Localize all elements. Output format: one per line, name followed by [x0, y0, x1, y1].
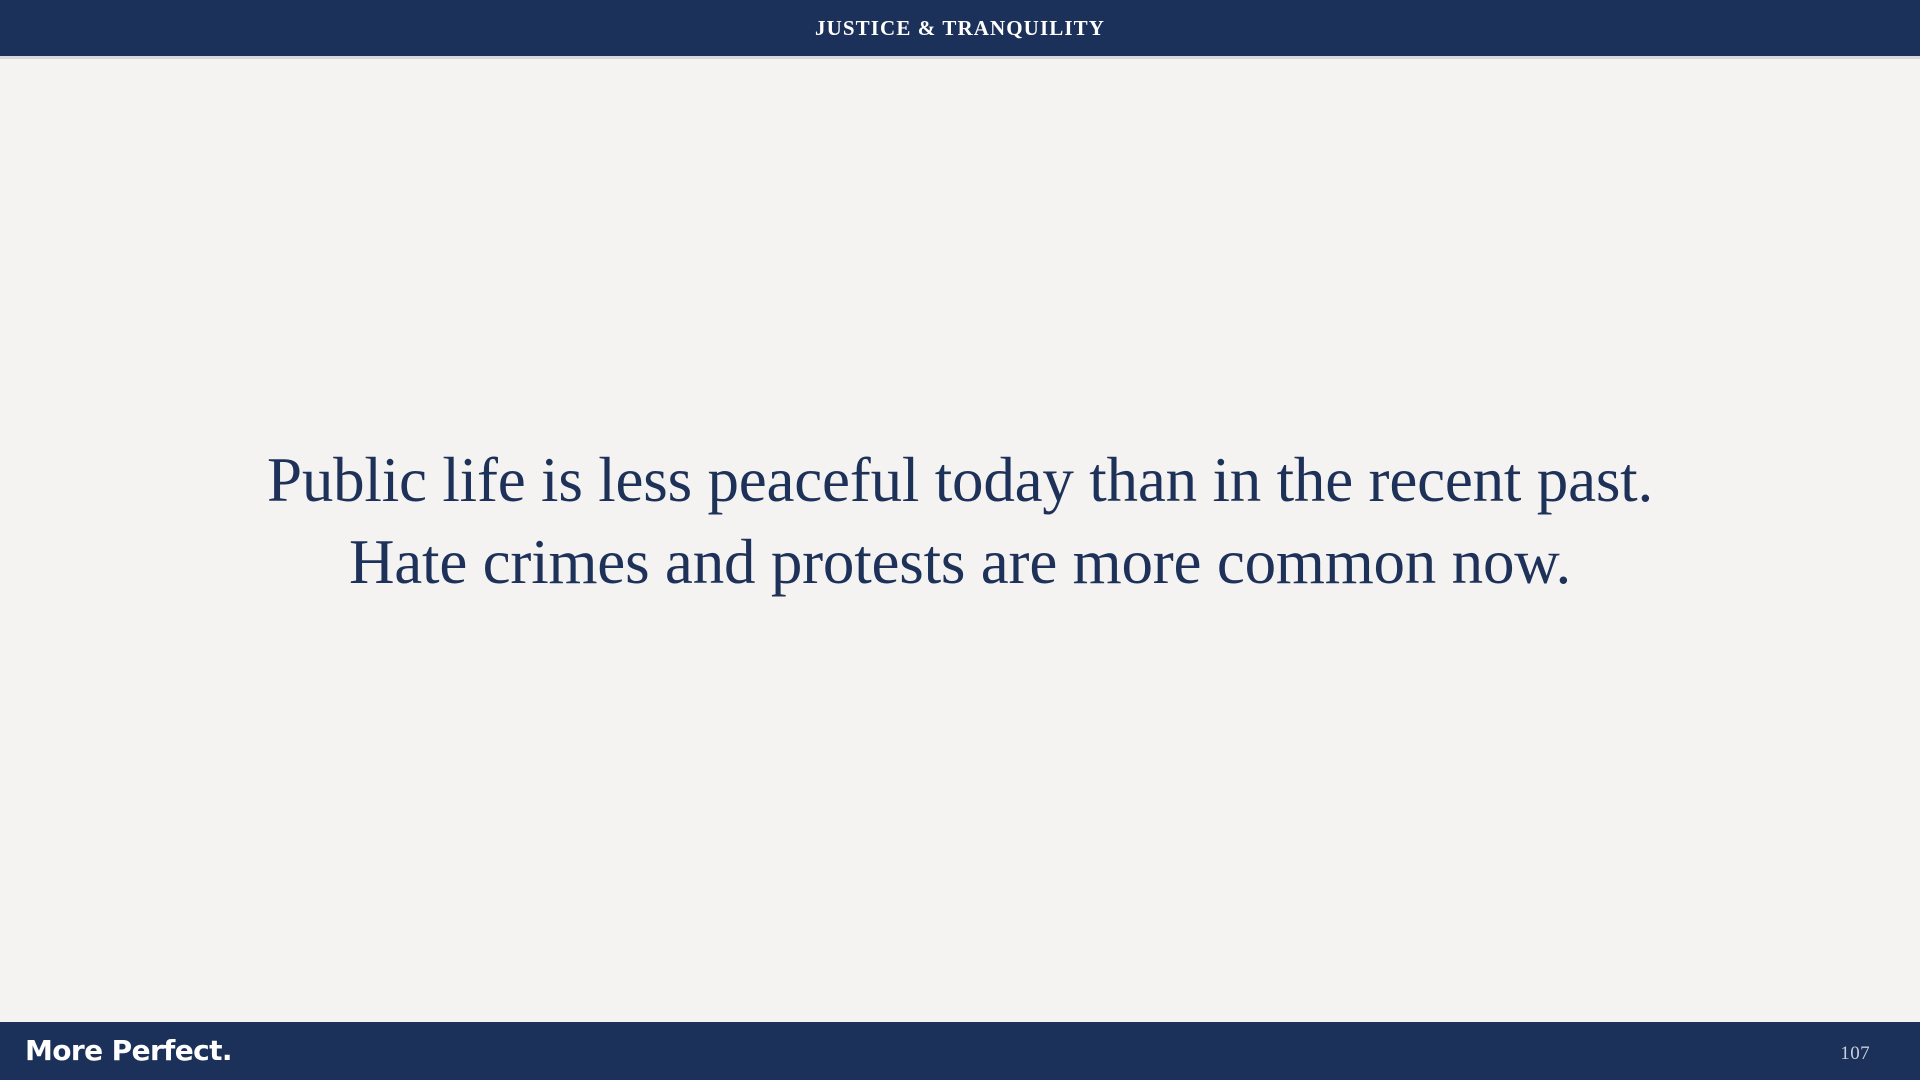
statement-text-block: Public life is less peaceful today than … — [90, 440, 1830, 604]
section-header-title: JUSTICE & TRANQUILITY — [815, 18, 1105, 39]
slide-footer-bar: More Perfect. 107 — [0, 1022, 1920, 1080]
slide-header-bar: JUSTICE & TRANQUILITY — [0, 0, 1920, 56]
slide-content-area: Public life is less peaceful today than … — [0, 59, 1920, 1022]
presentation-slide: JUSTICE & TRANQUILITY Public life is les… — [0, 0, 1920, 1080]
brand-logo-wordmark: More Perfect. — [25, 1037, 232, 1065]
slide-page-number: 107 — [1840, 1044, 1870, 1063]
statement-line-1: Public life is less peaceful today than … — [90, 440, 1830, 522]
statement-line-2: Hate crimes and protests are more common… — [90, 522, 1830, 604]
